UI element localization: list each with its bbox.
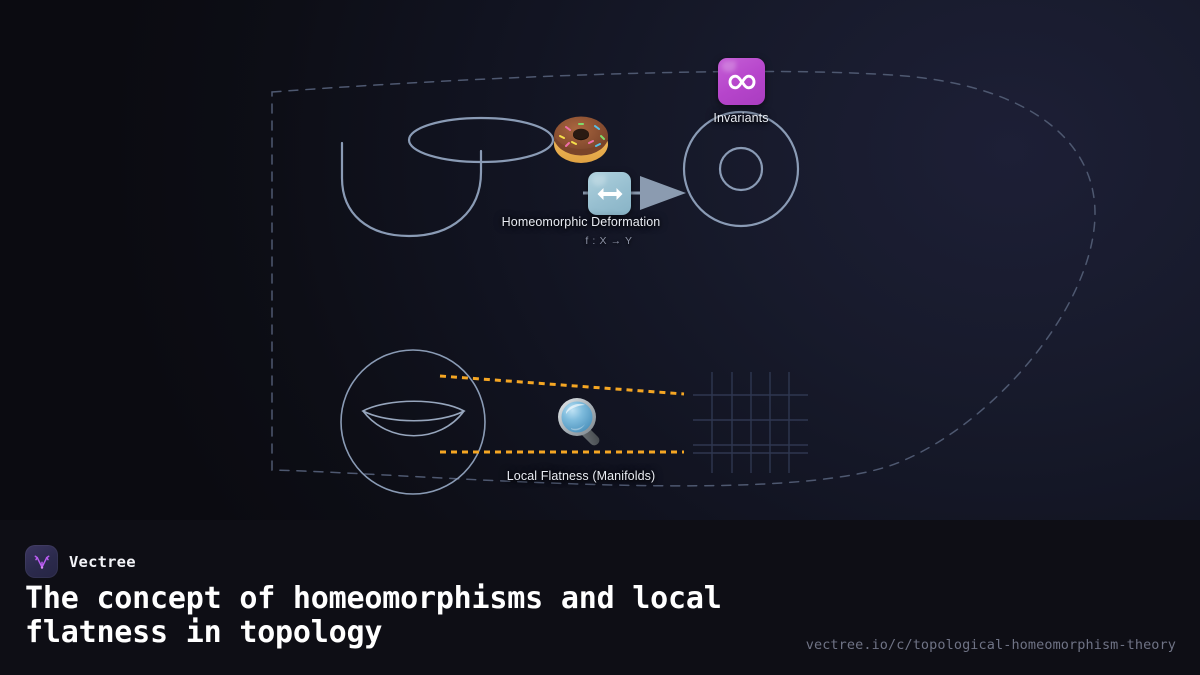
magnifying-glass-icon [552, 392, 610, 450]
sphere-outline [341, 350, 485, 494]
homeomorphic-deformation-icon-tile[interactable] [588, 172, 631, 215]
topological-space-boundary [272, 71, 1095, 485]
invariants-icon-tile[interactable] [718, 58, 765, 105]
double-arrow-icon [595, 179, 625, 209]
screenshot-root: Invariants Homeomorphic Deformation f : … [0, 0, 1200, 675]
infinity-icon [725, 65, 759, 99]
coffee-mug-outline [342, 118, 553, 236]
vectree-logo-icon [25, 545, 58, 578]
source-url: vectree.io/c/topological-homeomorphism-t… [806, 637, 1176, 653]
torus-outline [684, 112, 798, 226]
euclidean-grid [693, 372, 808, 473]
donut-emoji [554, 117, 608, 164]
footer-bar: Vectree The concept of homeomorphisms an… [0, 520, 1200, 675]
page-title: The concept of homeomorphisms and local … [25, 582, 785, 649]
v-tree-glyph-icon [32, 552, 52, 572]
brand-block: Vectree [25, 545, 136, 578]
brand-name: Vectree [69, 553, 136, 571]
